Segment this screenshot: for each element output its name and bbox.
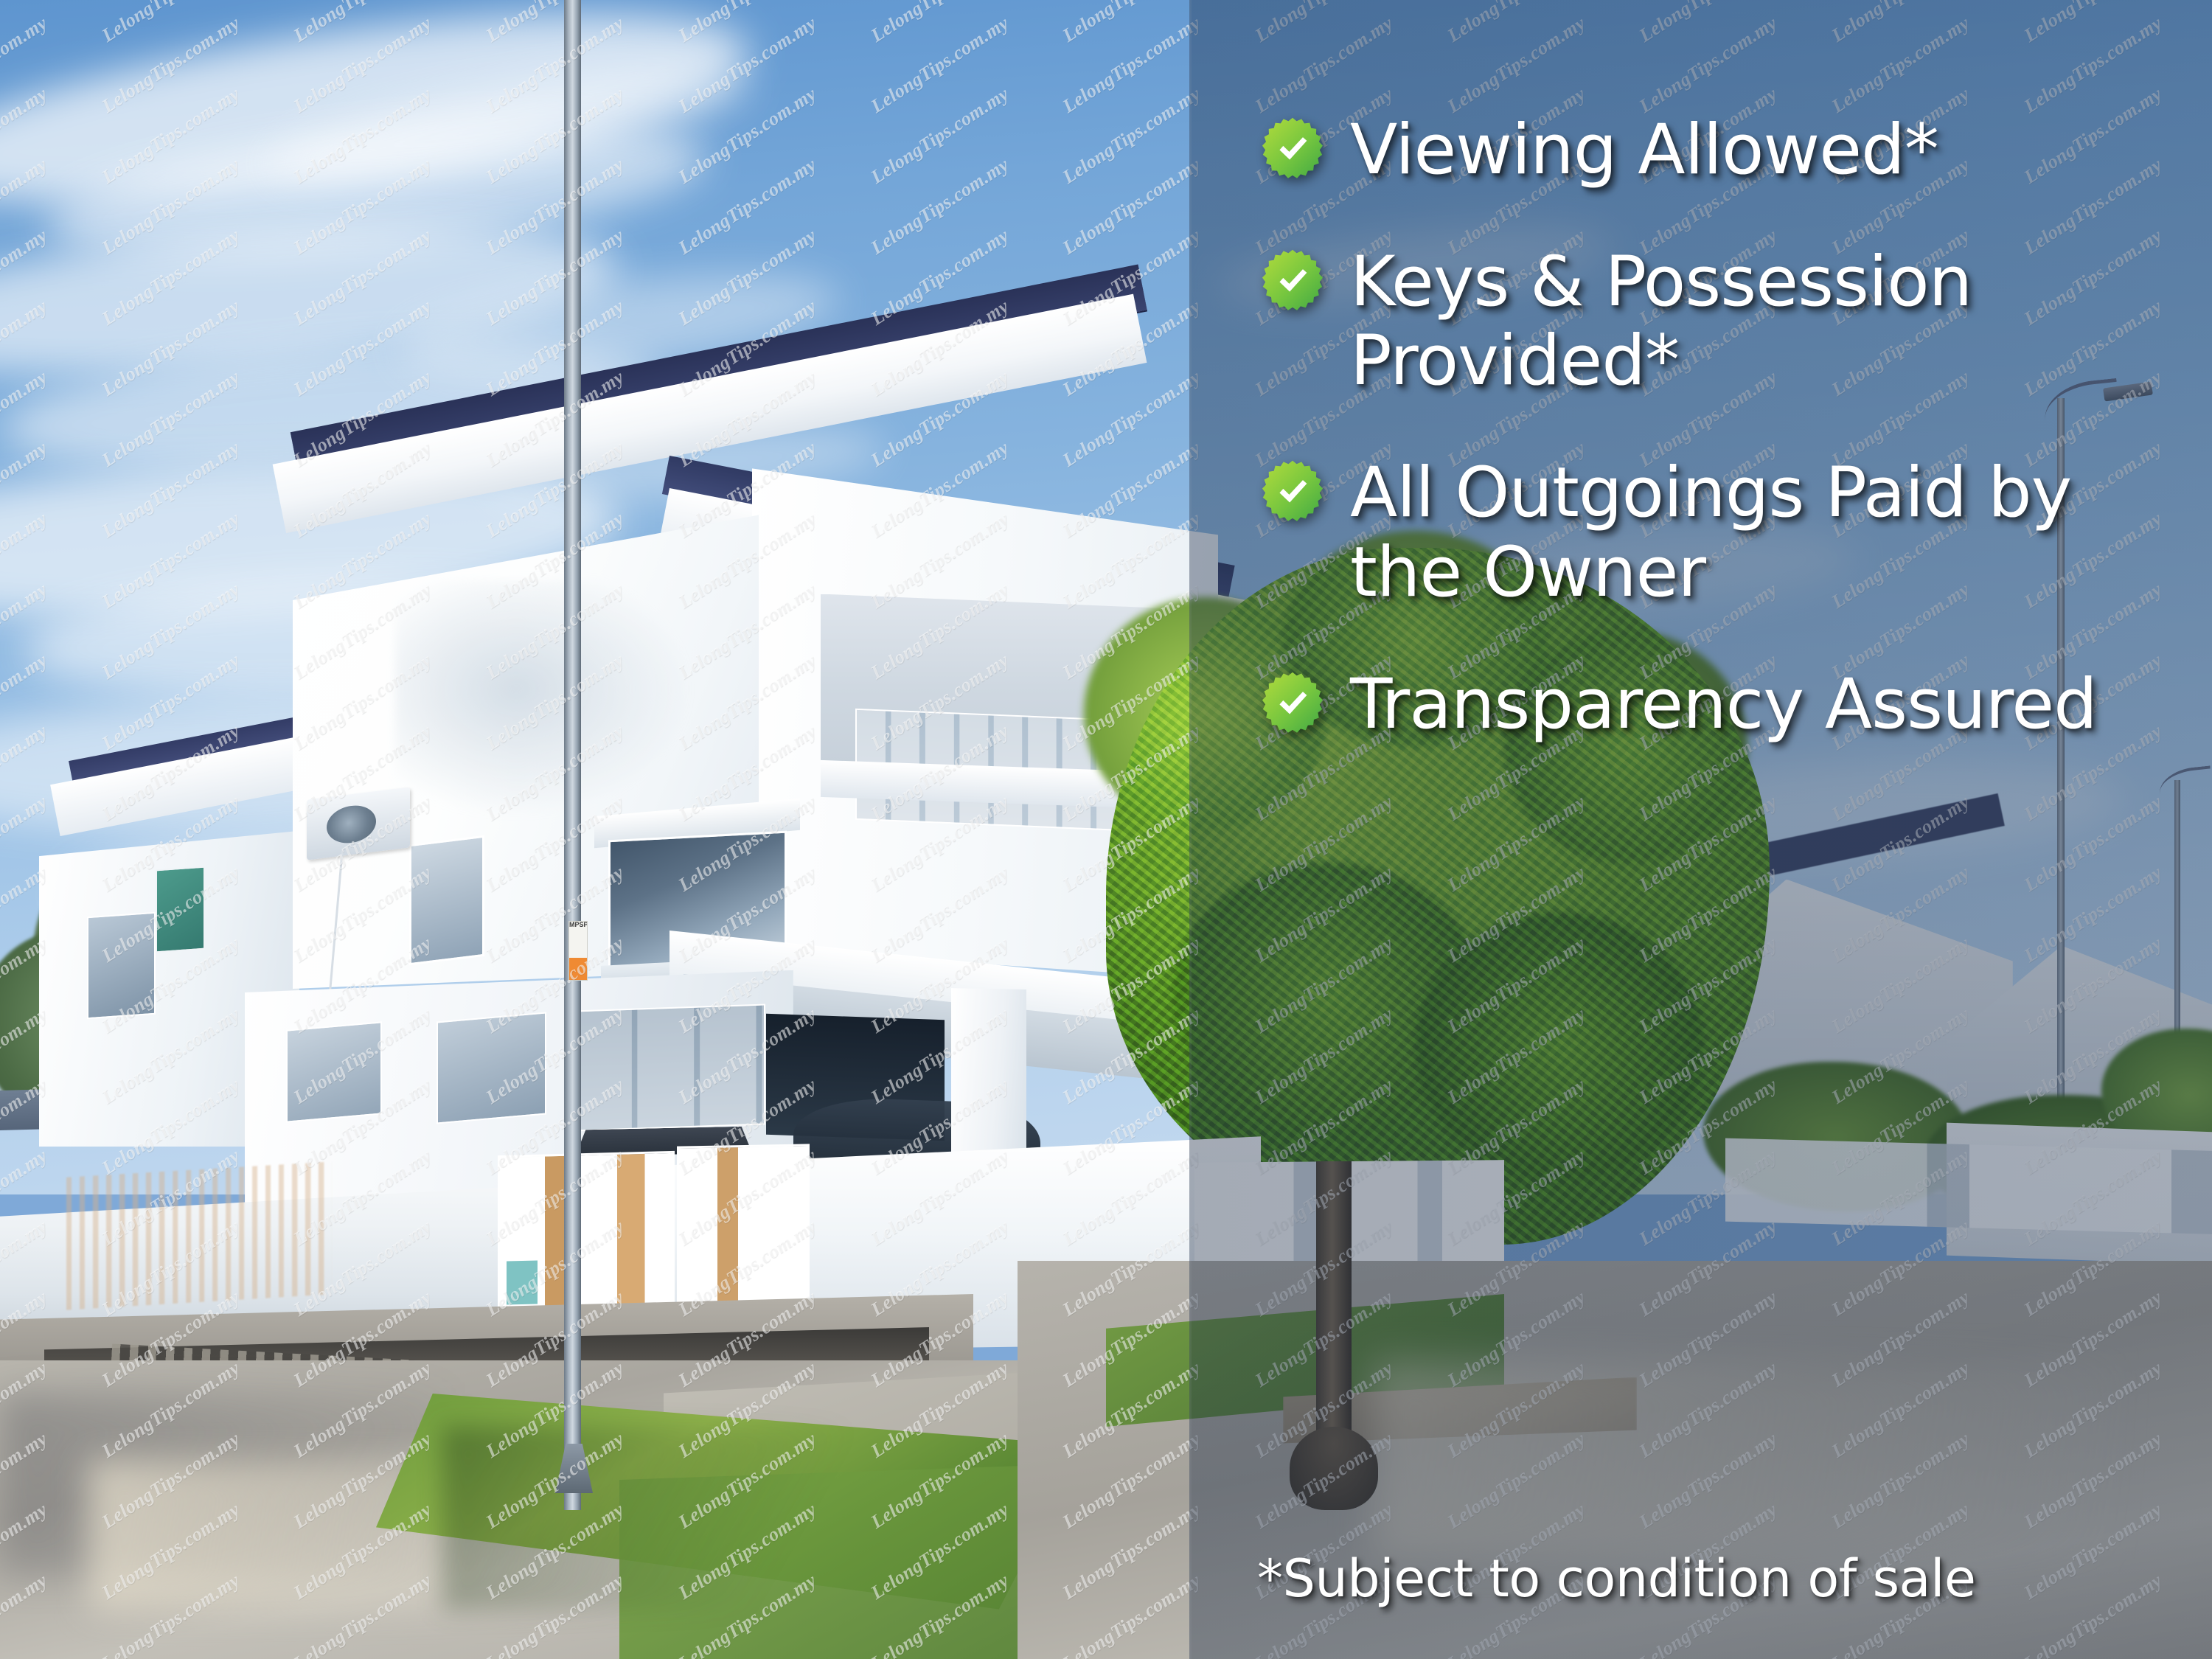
feature-label: Viewing Allowed* xyxy=(1350,111,1938,189)
feature-list: Viewing Allowed* xyxy=(1260,111,2183,1548)
pole-sticker: MPSP xyxy=(568,921,588,981)
window xyxy=(437,1012,546,1124)
timber-gate xyxy=(677,1144,810,1312)
sliding-glass-door xyxy=(574,1004,765,1132)
wall-shadow xyxy=(395,580,697,822)
feature-item-outgoings-paid: All Outgoings Paid by the Owner xyxy=(1260,453,2183,611)
grass-shadow xyxy=(442,1427,929,1610)
feature-label: Transparency Assured xyxy=(1350,665,2097,744)
window xyxy=(409,835,484,965)
window xyxy=(286,1022,382,1123)
green-glass-panel xyxy=(156,866,205,953)
check-badge-icon xyxy=(1260,248,1325,313)
feature-item-transparency-assured: Transparency Assured xyxy=(1260,665,2183,744)
property-banner: MPSP LelongTips.com.myLelongTips.com.myL… xyxy=(0,0,2212,1659)
check-badge-icon xyxy=(1260,459,1325,524)
footnote-text: *Subject to condition of sale xyxy=(1257,1548,2183,1630)
feature-item-viewing-allowed: Viewing Allowed* xyxy=(1260,111,2183,189)
check-badge-icon xyxy=(1260,116,1325,181)
gate-panel-accent xyxy=(507,1260,538,1304)
window xyxy=(87,912,156,1019)
feature-label: All Outgoings Paid by the Owner xyxy=(1350,453,2183,611)
features-overlay-panel: Viewing Allowed* xyxy=(1189,0,2212,1659)
check-badge-icon xyxy=(1260,671,1325,736)
feature-item-keys-possession: Keys & Possession Provided* xyxy=(1260,243,2183,400)
utility-pole xyxy=(564,0,581,1510)
boundary-wall-stain xyxy=(66,1162,332,1310)
feature-label: Keys & Possession Provided* xyxy=(1350,243,2183,400)
